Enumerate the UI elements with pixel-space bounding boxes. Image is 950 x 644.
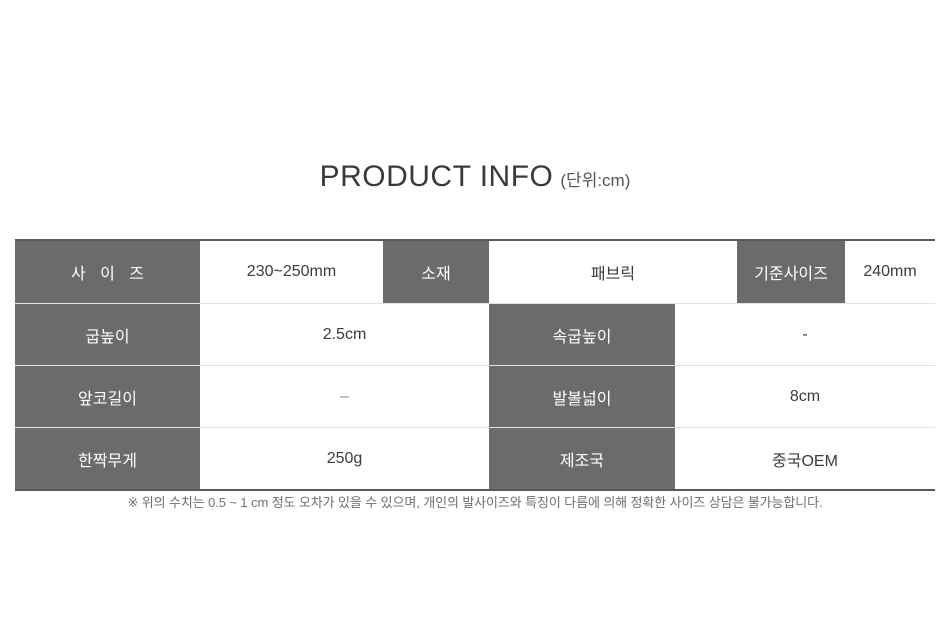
spec-value-single-weight: 250g: [200, 428, 489, 489]
spec-value-toe-length: –: [200, 366, 489, 427]
spec-value-foot-width: 8cm: [675, 366, 935, 427]
spec-label-foot-width: 발볼넓이: [489, 366, 675, 427]
product-spec-table: 사 이 즈 230~250mm 소재 패브릭 기준사이즈 240mm 굽높이 2…: [15, 239, 935, 491]
table-row: 사 이 즈 230~250mm 소재 패브릭 기준사이즈 240mm: [15, 241, 935, 303]
page-title-text: PRODUCT INFO: [320, 160, 554, 193]
table-row: 한짝무게 250g 제조국 중국OEM: [15, 427, 935, 489]
table-row: 앞코길이 – 발볼넓이 8cm: [15, 365, 935, 427]
spec-label-toe-length: 앞코길이: [15, 366, 200, 427]
spec-value-inner-heel-height: -: [675, 304, 935, 365]
spec-value-size: 230~250mm: [200, 241, 383, 303]
spec-label-country-of-manufacture: 제조국: [489, 428, 675, 489]
spec-value-heel-height: 2.5cm: [200, 304, 489, 365]
spec-label-standard-size: 기준사이즈: [737, 241, 845, 303]
spec-label-size-text: 사 이 즈: [66, 260, 149, 284]
table-row: 굽높이 2.5cm 속굽높이 -: [15, 303, 935, 365]
spec-label-heel-height: 굽높이: [15, 304, 200, 365]
product-info-page: PRODUCT INFO(단위:cm) 사 이 즈 230~250mm 소재 패…: [0, 0, 950, 644]
spec-label-material: 소재: [383, 241, 489, 303]
size-disclaimer-note: ※ 위의 수치는 0.5 ~ 1 cm 정도 오차가 있을 수 있으며, 개인의…: [0, 492, 950, 511]
spec-label-inner-heel-height: 속굽높이: [489, 304, 675, 365]
page-title-unit: (단위:cm): [560, 171, 630, 190]
spec-label-size: 사 이 즈: [15, 241, 200, 303]
spec-value-material: 패브릭: [489, 241, 737, 303]
page-title: PRODUCT INFO(단위:cm): [0, 160, 950, 194]
spec-value-country-of-manufacture: 중국OEM: [675, 428, 935, 489]
spec-value-standard-size: 240mm: [845, 241, 935, 303]
spec-label-single-weight: 한짝무게: [15, 428, 200, 489]
